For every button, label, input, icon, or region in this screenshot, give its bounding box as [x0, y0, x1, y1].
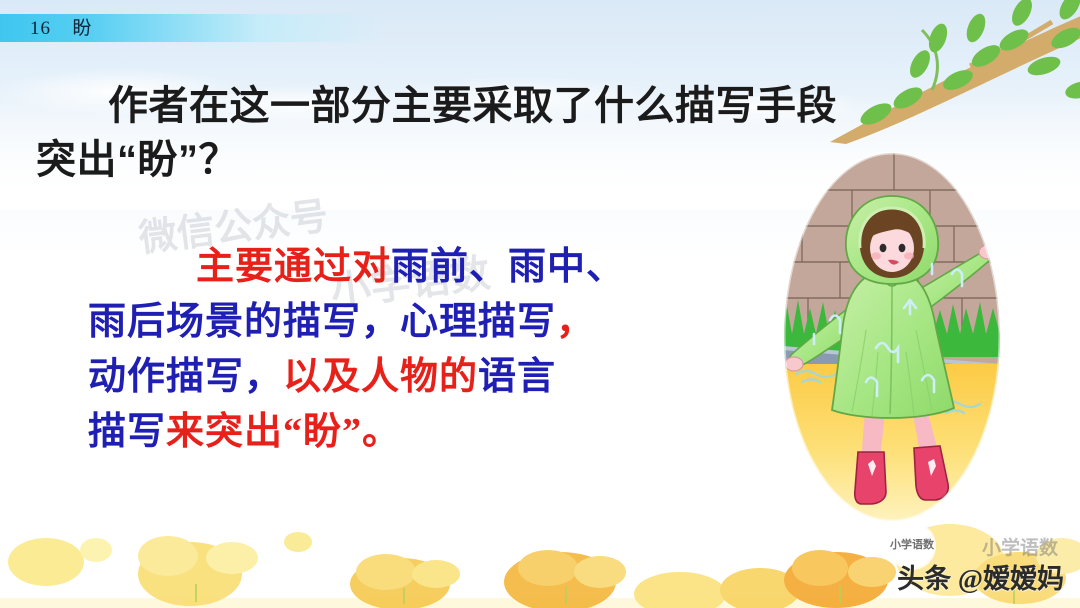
- question-line-2: 突出“盼”？: [36, 138, 239, 182]
- lesson-header: 16 盼: [30, 15, 93, 43]
- answer-seg-5: 动作描写，: [88, 356, 283, 398]
- answer-seg-6: 以及人物的: [283, 356, 478, 398]
- answer-seg-7: 语言: [478, 356, 556, 398]
- answer-seg-8: 描写: [88, 411, 166, 453]
- answer-seg-3: 雨后场景的描写，心理描写: [88, 301, 556, 343]
- brand-logo-text: 小学语数: [890, 540, 934, 552]
- illustration-girl-raincoat: [782, 152, 1002, 522]
- lesson-number: 16: [30, 18, 51, 39]
- question-line-1: 作者在这一部分主要采取了什么描写手段: [108, 84, 837, 128]
- answer-seg-9: 来突出“盼”。: [166, 411, 401, 453]
- answer-text: 主要通过对雨前、雨中、 雨后场景的描写，心理描写， 动作描写，以及人物的语言 描…: [88, 240, 728, 460]
- answer-seg-1: 主要通过对: [196, 246, 391, 288]
- answer-seg-4: ，: [556, 301, 595, 343]
- slide-root: 16 盼 作者在这一部分主要采取了什么描写手段 突出“盼”？ 微信公众号: [0, 0, 1080, 608]
- answer-seg-2: 雨前、雨中、: [391, 246, 625, 288]
- lesson-title: 盼: [73, 18, 93, 39]
- brand-faint-label: 小学语数: [982, 533, 1058, 560]
- brand-account-label: 头条 @嫒嫒妈: [897, 557, 1064, 596]
